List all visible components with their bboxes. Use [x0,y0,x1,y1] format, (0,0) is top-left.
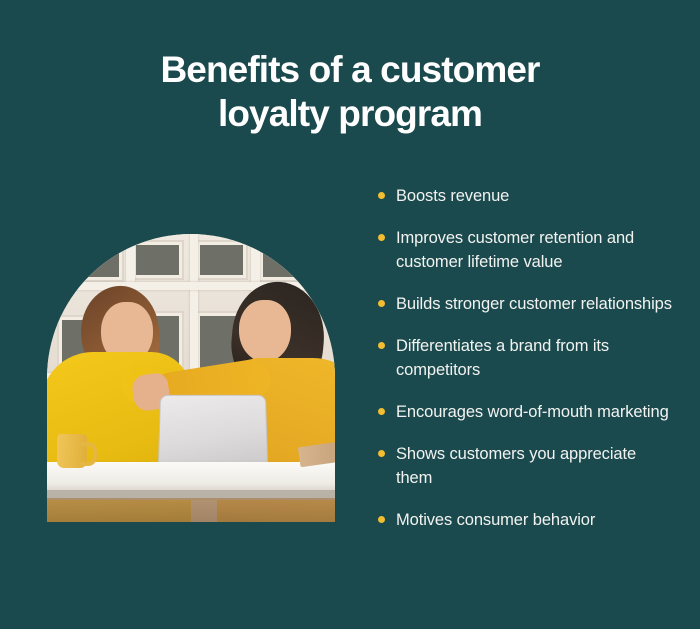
desk-underside [47,498,335,522]
bullet-dot-icon [378,408,385,415]
list-item: Differentiates a brand from its competit… [374,334,674,382]
list-item-label: Builds stronger customer relationships [396,295,672,313]
photo-scene [47,234,335,522]
title-line-1: Benefits of a customer [0,48,700,92]
list-item: Builds stronger customer relationships [374,292,674,316]
bullet-dot-icon [378,342,385,349]
laptop [158,395,268,467]
list-item-label: Improves customer retention and customer… [396,229,634,271]
list-item-label: Boosts revenue [396,187,509,205]
window-pane [64,246,122,279]
list-item: Improves customer retention and customer… [374,226,674,274]
desk-surface [47,462,335,492]
list-item-label: Differentiates a brand from its competit… [396,337,609,379]
list-item: Shows customers you appreciate them [374,442,674,490]
page-title: Benefits of a customer loyalty program [0,48,700,136]
face [239,300,291,362]
list-item-label: Shows customers you appreciate them [396,445,636,487]
list-item-label: Motives consumer behavior [396,511,595,529]
list-item: Boosts revenue [374,184,674,208]
window-pane [260,246,315,279]
bullet-dot-icon [378,450,385,457]
bullet-dot-icon [378,300,385,307]
title-line-2: loyalty program [0,92,700,136]
coffee-mug [57,434,87,468]
list-item-label: Encourages word-of-mouth marketing [396,403,669,421]
list-item: Encourages word-of-mouth marketing [374,400,674,424]
benefits-list: Boosts revenue Improves customer retenti… [374,184,674,532]
bullet-dot-icon [378,516,385,523]
window-pane [133,242,182,277]
list-item: Motives consumer behavior [374,508,674,532]
bullet-dot-icon [378,234,385,241]
window-mullion [190,234,199,383]
hero-photo [47,234,335,522]
window-pane [197,242,246,277]
bullet-dot-icon [378,192,385,199]
